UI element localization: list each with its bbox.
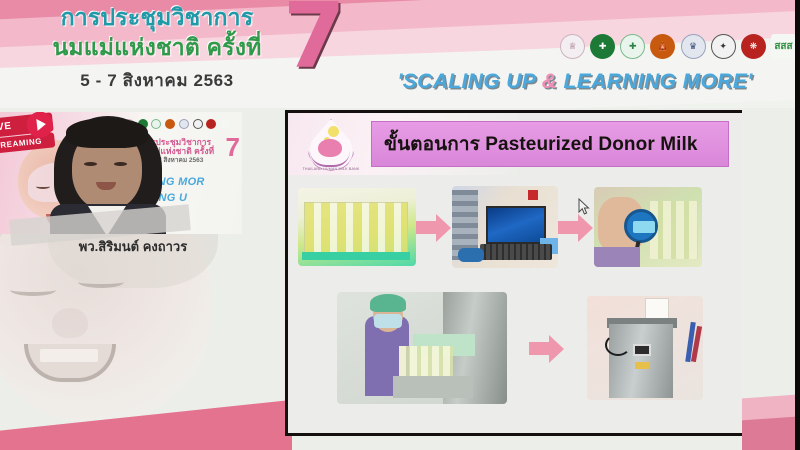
black-garuda-logo-icon: ✦ bbox=[711, 34, 736, 59]
speaker-name-label: พว.สิริมนต์ คงถาวร bbox=[8, 236, 258, 257]
poster-logo-5 bbox=[179, 119, 189, 129]
slide-screenshot: การประชุมวิชาการ นมแม่แห่งชาติ ครั้งที่ … bbox=[0, 0, 800, 450]
human-milk-bank-logo: THAILAND HUMAN MILK BANK bbox=[300, 117, 362, 175]
orange-temple-logo-icon: 🛕 bbox=[650, 34, 675, 59]
power-cord bbox=[605, 334, 631, 356]
logo-glyph: ✚ bbox=[599, 41, 607, 52]
logo-glyph: ❋ bbox=[750, 41, 758, 52]
royal-crown-logo-icon: ♛ bbox=[681, 34, 706, 59]
tagline-part2: LEARNING MORE' bbox=[557, 70, 752, 93]
conference-banner: การประชุมวิชาการ นมแม่แห่งชาติ ครั้งที่ … bbox=[0, 0, 800, 108]
conference-title-line1: การประชุมวิชาการ bbox=[22, 4, 292, 30]
poster-logo-8 bbox=[220, 119, 230, 129]
digital-thermometer-icon bbox=[624, 209, 658, 243]
right-background-strip bbox=[742, 108, 800, 450]
photo-nurse-loading-pasteurizer bbox=[337, 292, 507, 404]
photo-pasteurizer-machine bbox=[587, 296, 703, 400]
slide-heading-box: ขั้นตอนการ Pasteurized Donor Milk bbox=[371, 121, 729, 167]
live-streaming-badge: LIVE STREAMING bbox=[0, 112, 56, 159]
process-arrow-3-icon bbox=[529, 333, 565, 363]
poster-logo-7 bbox=[206, 119, 216, 129]
arrow-body bbox=[529, 342, 551, 355]
stainless-tray bbox=[393, 376, 473, 398]
logo-glyph: ✦ bbox=[719, 41, 727, 52]
royal-emblem-logo-icon: ♕ bbox=[560, 34, 585, 59]
photo-temperature-probe-check bbox=[594, 187, 702, 267]
poster-logo-6 bbox=[193, 119, 203, 129]
process-arrow-2-icon bbox=[558, 212, 594, 242]
red-marker bbox=[528, 190, 538, 200]
thermometer-display bbox=[633, 221, 655, 233]
logo-glyph: ✚ bbox=[629, 41, 637, 52]
logo-caption-text: THAILAND HUMAN MILK BANK bbox=[300, 167, 362, 171]
child-eye-left bbox=[10, 284, 56, 296]
milk-bottle-basket bbox=[399, 346, 453, 380]
photo-milk-bottle-racks bbox=[298, 188, 416, 266]
poster-edition-number: 7 bbox=[226, 134, 240, 160]
logo-glyph: ♛ bbox=[689, 41, 697, 52]
yellow-label bbox=[635, 362, 649, 369]
blue-device bbox=[458, 248, 484, 262]
nurse-face-mask bbox=[374, 314, 402, 328]
speaker-eye-right bbox=[114, 162, 127, 166]
tagline-ampersand: & bbox=[542, 70, 558, 93]
arrow-head bbox=[436, 214, 451, 242]
slide-heading-text: ขั้นตอนการ Pasteurized Donor Milk bbox=[384, 129, 698, 159]
mouse-cursor bbox=[578, 198, 590, 216]
control-panel-display bbox=[633, 344, 651, 356]
process-row-1 bbox=[298, 185, 738, 269]
conference-title-block: การประชุมวิชาการ นมแม่แห่งชาติ ครั้งที่ … bbox=[22, 4, 292, 94]
arrow-head bbox=[578, 214, 593, 242]
child-eye-right bbox=[78, 276, 124, 288]
right-pink-band-dark bbox=[742, 415, 800, 450]
arrow-body bbox=[558, 221, 580, 234]
arrow-head bbox=[549, 335, 564, 363]
logo-glyph: ♕ bbox=[568, 41, 576, 52]
conference-tagline: 'SCALING UP & LEARNING MORE' bbox=[360, 70, 790, 94]
conference-title-line2: นมแม่แห่งชาติ ครั้งที่ bbox=[22, 33, 292, 62]
purple-scrub-sleeve bbox=[594, 247, 640, 267]
laptop-screen bbox=[486, 206, 546, 244]
photo-laptop-data-entry bbox=[452, 186, 558, 268]
laptop-keyboard bbox=[480, 244, 552, 260]
bottle-racks bbox=[304, 202, 408, 254]
child-nose bbox=[52, 308, 88, 338]
sponsor-logo-strip: ♕ ✚ ✚ 🛕 ♛ ✦ ❋ สสส bbox=[560, 26, 796, 66]
public-health-logo-icon: ✚ bbox=[620, 34, 645, 59]
conference-date: 5 - 7 สิงหาคม 2563 bbox=[22, 67, 292, 94]
arrow-body bbox=[416, 221, 438, 234]
milk-drop-highlight bbox=[328, 126, 339, 137]
edition-number: 7 bbox=[283, 0, 346, 82]
process-row-2 bbox=[302, 285, 738, 411]
red-seal-logo-icon: ❋ bbox=[741, 34, 766, 59]
speaker-eye-left bbox=[84, 162, 97, 166]
rack-base bbox=[302, 252, 410, 260]
logo-glyph: 🛕 bbox=[657, 41, 668, 52]
process-arrow-1-icon bbox=[416, 212, 452, 242]
logo-glyph: สสส bbox=[774, 39, 792, 54]
green-circle-logo-icon: ✚ bbox=[590, 34, 615, 59]
thaihealth-logo-icon: สสส bbox=[771, 34, 796, 59]
right-black-border bbox=[795, 0, 800, 450]
nurse-surgical-cap bbox=[370, 294, 406, 312]
presentation-slide-panel: THAILAND HUMAN MILK BANK ขั้นตอนการ Past… bbox=[285, 110, 745, 436]
speaker-bangs bbox=[66, 118, 148, 148]
tagline-part1: 'SCALING UP bbox=[397, 70, 541, 93]
play-triangle bbox=[36, 118, 46, 131]
child-teeth bbox=[40, 349, 98, 362]
